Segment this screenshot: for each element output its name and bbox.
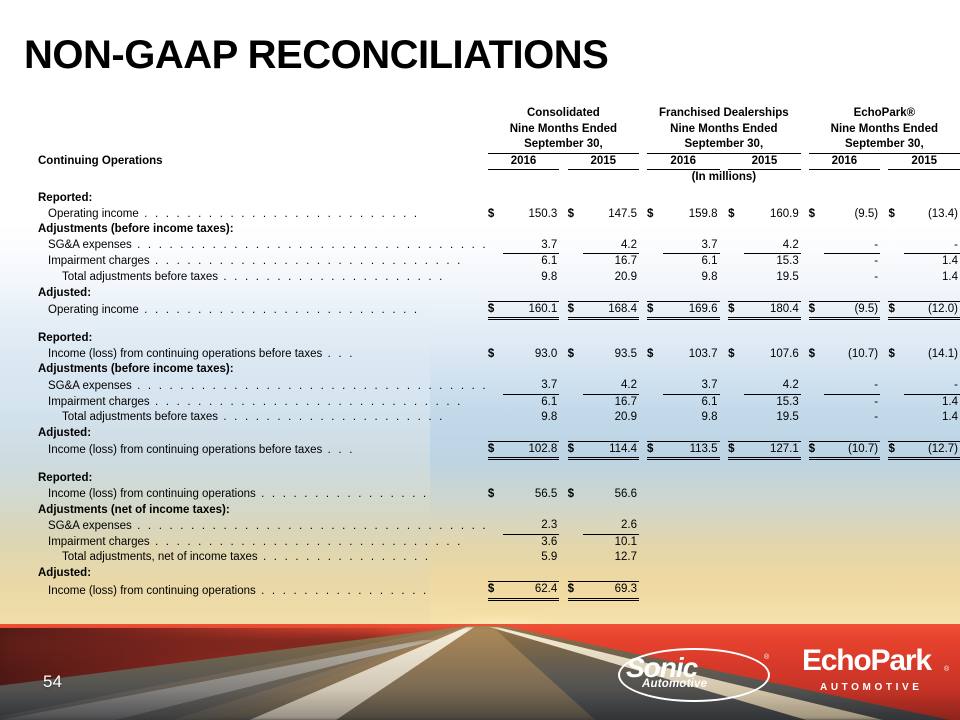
- leader-dots: . . . . . . . . . . . . . . . . . . . . …: [132, 520, 488, 532]
- block1-sga-row: SG&A expenses . . . . . . . . . . . . . …: [38, 238, 960, 254]
- block1-adj-cons-2015: 168.4: [583, 301, 639, 319]
- block3-reported-label-row: Reported:: [38, 471, 960, 487]
- group-name-consolidated: Consolidated: [488, 106, 639, 122]
- currency: $: [568, 441, 583, 459]
- block1-adjusted-label: Operating income: [48, 304, 139, 316]
- reported-heading: Reported:: [38, 191, 488, 207]
- sga-label: SG&A expenses: [48, 520, 132, 532]
- block2-total-row: Total adjustments before taxes . . . . .…: [38, 410, 960, 426]
- year-echopark-2015: 2015: [888, 153, 960, 170]
- registered-trademark-icon: ®: [944, 666, 949, 673]
- block2-impairment-row: Impairment charges . . . . . . . . . . .…: [38, 394, 960, 410]
- sga-label: SG&A expenses: [48, 380, 132, 392]
- impairment-label: Impairment charges: [48, 396, 150, 408]
- currency: $: [488, 207, 503, 223]
- block3-reported-echo-2015: [904, 487, 960, 503]
- block3-reported-row: Income (loss) from continuing operations…: [38, 487, 960, 503]
- currency: $: [647, 347, 663, 363]
- leader-dots: . . . . . . . . . . . . . . . . . . . . …: [218, 271, 445, 283]
- block2-sga-cons-2015: 4.2: [583, 378, 639, 394]
- block1-tot-echo-2016: -: [824, 270, 880, 286]
- block1-adj-fran-2015: 180.4: [744, 301, 801, 319]
- group-date-consolidated: September 30,: [488, 137, 639, 153]
- block2-tot-echo-2015: 1.4: [904, 410, 960, 426]
- block2-sga-fran-2016: 3.7: [663, 378, 720, 394]
- block3-reported-echo-2016: [824, 487, 880, 503]
- block2-reported-fran-2016: 103.7: [663, 347, 720, 363]
- block2-reported-cons-2015: 93.5: [583, 347, 639, 363]
- currency: $: [728, 301, 744, 319]
- block2-imp-fran-2016: 6.1: [663, 394, 720, 410]
- block1-reported-fran-2015: 160.9: [744, 207, 801, 223]
- year-franchised-2016: 2016: [647, 153, 720, 170]
- currency: $: [568, 582, 583, 600]
- spacer: [38, 319, 960, 332]
- block1-sga-echo-2016: -: [824, 238, 880, 254]
- block1-adjusted-label-row: Adjusted:: [38, 286, 960, 302]
- block3-adjustments-heading: Adjustments (net of income taxes):: [38, 503, 488, 519]
- block1-sga-echo-2015: -: [904, 238, 960, 254]
- sonic-sub-wordmark: Automotive: [642, 678, 707, 690]
- block3-impairment-row: Impairment charges . . . . . . . . . . .…: [38, 534, 960, 550]
- non-gaap-reconciliation-table: Consolidated Franchised Dealerships Echo…: [38, 106, 960, 601]
- block1-imp-fran-2015: 15.3: [744, 254, 801, 270]
- spacer: [38, 459, 960, 472]
- block1-reported-fran-2016: 159.8: [663, 207, 720, 223]
- block3-imp-cons-2016: 3.6: [503, 534, 559, 550]
- block2-reported-echo-2016: (10.7): [824, 347, 880, 363]
- reported-heading: Reported:: [38, 471, 488, 487]
- block1-adj-echo-2016: (9.5): [824, 301, 880, 319]
- block2-imp-echo-2015: 1.4: [904, 394, 960, 410]
- block1-adj-echo-2015: (12.0): [904, 301, 960, 319]
- block3-sga-cons-2016: 2.3: [503, 518, 559, 534]
- year-consolidated-2016: 2016: [488, 153, 559, 170]
- currency: $: [568, 487, 583, 503]
- block1-adj-cons-2016: 160.1: [503, 301, 559, 319]
- block2-adjusted-label-row: Adjusted:: [38, 426, 960, 442]
- currency: $: [888, 347, 903, 363]
- block2-sga-row: SG&A expenses . . . . . . . . . . . . . …: [38, 378, 960, 394]
- block2-imp-fran-2015: 15.3: [744, 394, 801, 410]
- adjusted-heading: Adjusted:: [38, 566, 488, 582]
- group-name-row: Consolidated Franchised Dealerships Echo…: [38, 106, 960, 122]
- currency: $: [647, 441, 663, 459]
- block2-adj-echo-2015: (12.7): [904, 441, 960, 459]
- currency: $: [809, 441, 824, 459]
- block3-reported-cons-2016: 56.5: [503, 487, 559, 503]
- reconciliation-table-wrapper: Consolidated Franchised Dealerships Echo…: [0, 0, 960, 720]
- echopark-sub-wordmark: AUTOMOTIVE: [820, 682, 922, 693]
- leader-dots: . . . . . . . . . . . . . . . . . . . . …: [139, 208, 420, 220]
- block1-adjustments-label-row: Adjustments (before income taxes):: [38, 222, 960, 238]
- block2-tot-fran-2015: 19.5: [744, 410, 801, 426]
- block2-sga-fran-2015: 4.2: [744, 378, 801, 394]
- year-franchised-2015: 2015: [728, 153, 801, 170]
- block1-reported-echo-2015: (13.4): [904, 207, 960, 223]
- units-note: (In millions): [647, 170, 801, 186]
- group-period-consolidated: Nine Months Ended: [488, 122, 639, 138]
- impairment-label: Impairment charges: [48, 255, 150, 267]
- block3-reported-label: Income (loss) from continuing operations: [48, 488, 256, 500]
- block3-imp-cons-2015: 10.1: [583, 534, 639, 550]
- currency: $: [568, 207, 583, 223]
- block2-adj-cons-2015: 114.4: [583, 441, 639, 459]
- echopark-wordmark: EchoPark: [802, 644, 931, 678]
- block2-reported-label-row: Reported:: [38, 331, 960, 347]
- block3-adjusted-row: Income (loss) from continuing operations…: [38, 582, 960, 600]
- block2-adj-cons-2016: 102.8: [503, 441, 559, 459]
- adjusted-heading: Adjusted:: [38, 286, 488, 302]
- currency: $: [488, 582, 503, 600]
- block1-adj-fran-2016: 169.6: [663, 301, 720, 319]
- block3-adj-cons-2016: 62.4: [503, 582, 559, 600]
- block1-tot-fran-2016: 9.8: [663, 270, 720, 286]
- block2-reported-cons-2016: 93.0: [503, 347, 559, 363]
- leader-dots: . . . . . . . . . . . . . . . . . . . . …: [150, 255, 463, 267]
- block2-reported-fran-2015: 107.6: [744, 347, 801, 363]
- block2-sga-echo-2016: -: [824, 378, 880, 394]
- block1-total-row: Total adjustments before taxes . . . . .…: [38, 270, 960, 286]
- slide-canvas: NON-GAAP RECONCILIATIONS Consolidated Fr…: [0, 0, 960, 720]
- block3-adjusted-label-row: Adjusted:: [38, 566, 960, 582]
- block3-adjustments-label-row: Adjustments (net of income taxes):: [38, 503, 960, 519]
- adjusted-heading: Adjusted:: [38, 426, 488, 442]
- block2-adj-echo-2016: (10.7): [824, 441, 880, 459]
- group-period-franchised: Nine Months Ended: [647, 122, 801, 138]
- currency: $: [488, 441, 503, 459]
- block1-impairment-row: Impairment charges . . . . . . . . . . .…: [38, 254, 960, 270]
- currency: $: [488, 301, 503, 319]
- block2-adj-fran-2016: 113.5: [663, 441, 720, 459]
- block2-adjustments-heading: Adjustments (before income taxes):: [38, 362, 488, 378]
- leader-dots: . . . . . . . . . . . . . . . .: [256, 488, 429, 500]
- block1-reported-echo-2016: (9.5): [824, 207, 880, 223]
- block1-sga-fran-2016: 3.7: [663, 238, 720, 254]
- block2-adj-fran-2015: 127.1: [744, 441, 801, 459]
- block1-imp-cons-2015: 16.7: [583, 254, 639, 270]
- block1-reported-label-row: Reported:: [38, 191, 960, 207]
- block2-imp-echo-2016: -: [824, 394, 880, 410]
- leader-dots: . . . . . . . . . . . . . . . . . . . . …: [132, 239, 488, 251]
- block2-tot-cons-2016: 9.8: [503, 410, 559, 426]
- currency: $: [568, 301, 583, 319]
- leader-dots: . . . . . . . . . . . . . . . .: [258, 551, 431, 563]
- block1-tot-cons-2015: 20.9: [583, 270, 639, 286]
- leader-dots: . . . . . . . . . . . . . . . .: [256, 585, 429, 597]
- block2-adjusted-row: Income (loss) from continuing operations…: [38, 441, 960, 459]
- year-header-row: Continuing Operations 2016 2015 2016 201…: [38, 153, 960, 170]
- group-name-echopark: EchoPark®: [809, 106, 960, 122]
- currency: $: [888, 301, 903, 319]
- impairment-label: Impairment charges: [48, 536, 150, 548]
- block1-tot-cons-2016: 9.8: [503, 270, 559, 286]
- footer-logos: Sonic Automotive ® EchoPark ® AUTOMOTIVE: [612, 638, 950, 712]
- block2-adjustments-label-row: Adjustments (before income taxes):: [38, 362, 960, 378]
- block2-sga-cons-2016: 3.7: [503, 378, 559, 394]
- currency: $: [809, 207, 824, 223]
- currency: $: [568, 347, 583, 363]
- currency: $: [488, 487, 503, 503]
- block3-tot-cons-2016: 5.9: [503, 550, 559, 566]
- block2-total-label: Total adjustments before taxes: [62, 411, 218, 423]
- block1-sga-fran-2015: 4.2: [744, 238, 801, 254]
- leader-dots: . . . . . . . . . . . . . . . . . . . . …: [150, 396, 463, 408]
- block2-tot-echo-2016: -: [824, 410, 880, 426]
- currency: $: [488, 347, 503, 363]
- currency: $: [888, 207, 903, 223]
- block1-imp-cons-2016: 6.1: [503, 254, 559, 270]
- block1-total-label: Total adjustments before taxes: [62, 271, 218, 283]
- leader-dots: . . .: [322, 444, 354, 456]
- reported-heading: Reported:: [38, 331, 488, 347]
- block1-sga-cons-2016: 3.7: [503, 238, 559, 254]
- block1-reported-row: Operating income . . . . . . . . . . . .…: [38, 207, 960, 223]
- block3-sga-cons-2015: 2.6: [583, 518, 639, 534]
- currency: $: [728, 207, 744, 223]
- block1-imp-fran-2016: 6.1: [663, 254, 720, 270]
- block1-tot-echo-2015: 1.4: [904, 270, 960, 286]
- currency: $: [888, 441, 903, 459]
- echopark-automotive-logo: EchoPark ® AUTOMOTIVE: [802, 640, 952, 706]
- block3-reported-cons-2015: 56.6: [583, 487, 639, 503]
- block3-total-row: Total adjustments, net of income taxes .…: [38, 550, 960, 566]
- leader-dots: . . . . . . . . . . . . . . . . . . . . …: [132, 380, 488, 392]
- currency: $: [728, 441, 744, 459]
- block2-sga-echo-2015: -: [904, 378, 960, 394]
- block1-adjusted-row: Operating income . . . . . . . . . . . .…: [38, 301, 960, 319]
- block2-tot-cons-2015: 20.9: [583, 410, 639, 426]
- block1-reported-label: Operating income: [48, 208, 139, 220]
- block2-imp-cons-2015: 16.7: [583, 394, 639, 410]
- block1-sga-cons-2015: 4.2: [583, 238, 639, 254]
- currency: $: [809, 301, 824, 319]
- block2-reported-label: Income (loss) from continuing operations…: [48, 348, 322, 360]
- block3-reported-fran-2015: [744, 487, 801, 503]
- block2-adjusted-label: Income (loss) from continuing operations…: [48, 444, 322, 456]
- block3-total-label: Total adjustments, net of income taxes: [62, 551, 258, 563]
- currency: $: [728, 347, 744, 363]
- units-row: (In millions): [38, 170, 960, 186]
- group-name-franchised: Franchised Dealerships: [647, 106, 801, 122]
- group-date-franchised: September 30,: [647, 137, 801, 153]
- block1-imp-echo-2016: -: [824, 254, 880, 270]
- leader-dots: . . . . . . . . . . . . . . . . . . . . …: [218, 411, 445, 423]
- year-echopark-2016: 2016: [809, 153, 880, 170]
- leader-dots: . . . . . . . . . . . . . . . . . . . . …: [150, 536, 463, 548]
- leader-dots: . . . . . . . . . . . . . . . . . . . . …: [139, 304, 420, 316]
- currency: $: [809, 347, 824, 363]
- sga-label: SG&A expenses: [48, 239, 132, 251]
- registered-trademark-icon: ®: [764, 654, 769, 661]
- block1-reported-cons-2015: 147.5: [583, 207, 639, 223]
- page-number: 54: [43, 672, 62, 692]
- year-consolidated-2015: 2015: [568, 153, 639, 170]
- block1-adjustments-heading: Adjustments (before income taxes):: [38, 222, 488, 238]
- block1-reported-cons-2016: 150.3: [503, 207, 559, 223]
- block3-adj-cons-2015: 69.3: [583, 582, 639, 600]
- block3-adjusted-label: Income (loss) from continuing operations: [48, 585, 256, 597]
- currency: $: [647, 207, 663, 223]
- block1-tot-fran-2015: 19.5: [744, 270, 801, 286]
- sonic-automotive-logo: Sonic Automotive ®: [612, 642, 772, 704]
- block2-reported-row: Income (loss) from continuing operations…: [38, 347, 960, 363]
- block3-tot-cons-2015: 12.7: [583, 550, 639, 566]
- currency: $: [647, 301, 663, 319]
- group-line2-row: Nine Months Ended Nine Months Ended Nine…: [38, 122, 960, 138]
- group-date-echopark: September 30,: [809, 137, 960, 153]
- block3-reported-fran-2016: [663, 487, 720, 503]
- block3-sga-row: SG&A expenses . . . . . . . . . . . . . …: [38, 518, 960, 534]
- group-line3-row: September 30, September 30, September 30…: [38, 137, 960, 153]
- block2-tot-fran-2016: 9.8: [663, 410, 720, 426]
- leader-dots: . . .: [322, 348, 354, 360]
- block2-reported-echo-2015: (14.1): [904, 347, 960, 363]
- group-period-echopark: Nine Months Ended: [809, 122, 960, 138]
- row-header-label: Continuing Operations: [38, 153, 488, 170]
- block1-imp-echo-2015: 1.4: [904, 254, 960, 270]
- block2-imp-cons-2016: 6.1: [503, 394, 559, 410]
